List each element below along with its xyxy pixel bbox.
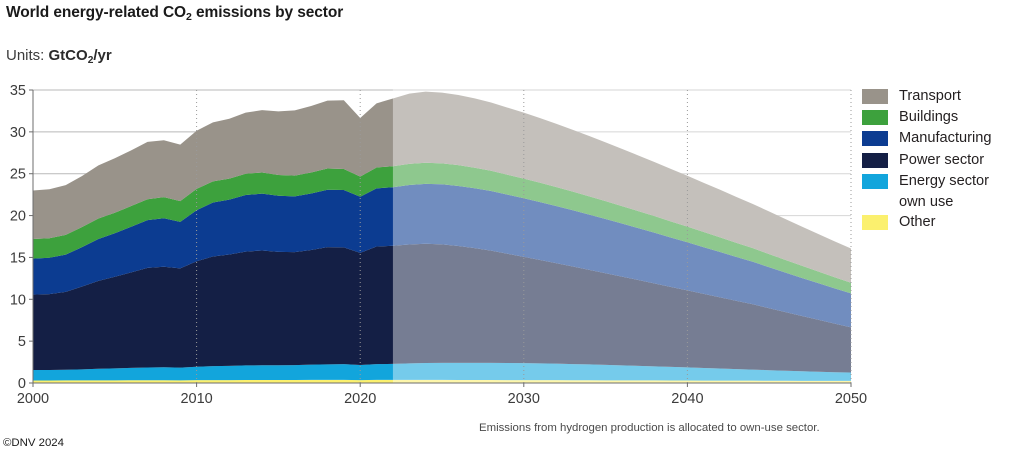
y-axis-tick-label: 20 — [10, 209, 26, 225]
legend-item-other[interactable]: Other — [862, 212, 1022, 233]
x-axis-tick-label: 2050 — [835, 391, 867, 407]
x-axis-tick-label: 2010 — [180, 391, 212, 407]
legend-item-power-sector[interactable]: Power sector — [862, 150, 1022, 171]
copyright-notice: ©DNV 2024 — [3, 437, 64, 449]
x-axis-tick-label: 2020 — [344, 391, 376, 407]
y-axis-tick-label: 10 — [10, 292, 26, 308]
legend-label-continuation: own use — [899, 192, 1022, 212]
chart-footnote: Emissions from hydrogen production is al… — [479, 422, 820, 434]
legend-swatch-icon — [862, 89, 888, 104]
y-axis-tick-label: 25 — [10, 167, 26, 183]
legend-item-buildings[interactable]: Buildings — [862, 107, 1022, 128]
x-axis-tick-label: 2030 — [508, 391, 540, 407]
legend-item-energy-sector[interactable]: Energy sector — [862, 171, 1022, 192]
legend-label: Other — [899, 212, 936, 232]
x-axis-tick-label: 2000 — [17, 391, 49, 407]
legend-swatch-icon — [862, 153, 888, 168]
chart-legend: TransportBuildingsManufacturingPower sec… — [862, 86, 1022, 233]
forecast-shade-overlay — [393, 84, 851, 383]
y-axis-tick-label: 5 — [18, 334, 26, 350]
legend-label: Transport — [899, 86, 961, 106]
x-axis-tick-label: 2040 — [671, 391, 703, 407]
y-axis-tick-label: 0 — [18, 376, 26, 392]
legend-label: Manufacturing — [899, 128, 991, 148]
legend-label: Energy sector — [899, 171, 989, 191]
legend-label: Power sector — [899, 150, 984, 170]
legend-swatch-icon — [862, 215, 888, 230]
y-axis-tick-label: 15 — [10, 250, 26, 266]
y-axis-tick-label: 35 — [10, 83, 26, 99]
legend-item-transport[interactable]: Transport — [862, 86, 1022, 107]
legend-swatch-icon — [862, 174, 888, 189]
legend-swatch-icon — [862, 110, 888, 125]
legend-item-manufacturing[interactable]: Manufacturing — [862, 128, 1022, 149]
y-axis-tick-label: 30 — [10, 125, 26, 141]
legend-label: Buildings — [899, 107, 958, 127]
legend-swatch-icon — [862, 131, 888, 146]
